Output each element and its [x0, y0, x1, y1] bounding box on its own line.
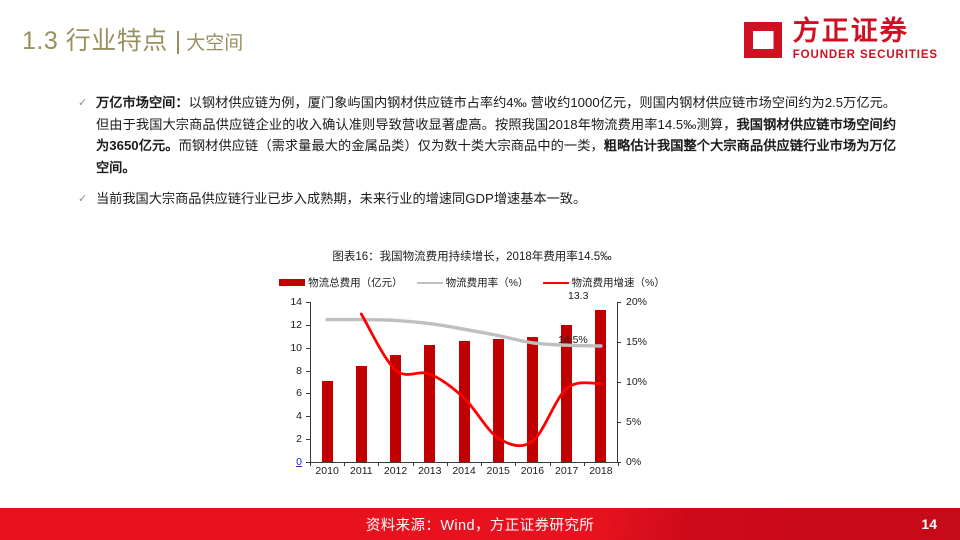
- checkmark-bullet-icon: ✓: [78, 93, 96, 113]
- y-tick-label-left: 14: [290, 296, 302, 308]
- y-tick-label-right: 10%: [626, 376, 647, 388]
- rate-line-label-2018: 14.5%: [558, 334, 588, 346]
- company-logo: 方正证券 FOUNDER SECURITIES: [742, 18, 938, 61]
- footer-source-text: 资料来源：Wind，方正证券研究所: [0, 508, 960, 540]
- page-title: 1.3 行业特点|大空间: [22, 21, 243, 57]
- chart-x-axis: [310, 462, 618, 463]
- bullet-1-lead-bold: 万亿市场空间：: [96, 95, 189, 110]
- x-tick-label: 2010: [315, 465, 338, 477]
- x-tick-mark: [310, 462, 311, 466]
- x-tick-label: 2014: [452, 465, 475, 477]
- x-tick-label: 2011: [350, 465, 373, 477]
- bullet-1-line4-pre: ，: [591, 138, 604, 153]
- chart-legend: 物流总费用（亿元） 物流费用率（%） 物流费用增速（%）: [252, 275, 692, 290]
- legend-swatch-red-line-icon: [543, 282, 569, 284]
- slide-body: ✓ 万亿市场空间：以钢材供应链为例，厦门象屿国内钢材供应链市占率约4‰ 营收约1…: [78, 92, 908, 220]
- logo-english-name: FOUNDER SECURITIES: [793, 49, 938, 61]
- page-title-separator: |: [175, 27, 182, 55]
- bullet-item-2: ✓ 当前我国大宗商品供应链行业已步入成熟期，未来行业的增速同GDP增速基本一致。: [78, 188, 908, 210]
- y-tick-label-right: 15%: [626, 336, 647, 348]
- legend-item-red-line: 物流费用增速（%）: [543, 275, 665, 290]
- y-tick-label-left: 12: [290, 319, 302, 331]
- legend-label-bar: 物流总费用（亿元）: [308, 275, 403, 290]
- y-tick-label-left: 2: [296, 433, 302, 445]
- x-tick-label: 2013: [418, 465, 441, 477]
- bullet-1-line3-rest: 而钢材供应链（需求量最大的金属品类）仅为数十类大宗商品中的一类: [179, 138, 591, 153]
- chart-title: 图表16：我国物流费用持续增长，2018年费用率14.5‰: [252, 248, 692, 264]
- chart-lines-layer: [310, 302, 618, 462]
- legend-label-gray-line: 物流费用率（%）: [446, 275, 529, 290]
- page-title-sub: 大空间: [186, 33, 243, 54]
- legend-swatch-gray-line-icon: [417, 282, 443, 284]
- slide-header: 1.3 行业特点|大空间 方正证券 FOUNDER SECURITIES: [0, 0, 960, 72]
- y-tick-label-left: 6: [296, 387, 302, 399]
- x-tick-label: 2015: [487, 465, 510, 477]
- slide-root: 1.3 行业特点|大空间 方正证券 FOUNDER SECURITIES ✓ 万…: [0, 0, 960, 540]
- x-tick-label: 2012: [384, 465, 407, 477]
- bullet-text-2: 当前我国大宗商品供应链行业已步入成熟期，未来行业的增速同GDP增速基本一致。: [96, 188, 896, 210]
- slide-footer: 资料来源：Wind，方正证券研究所 14: [0, 508, 960, 540]
- logo-chinese-name: 方正证券: [793, 18, 909, 45]
- chart-container: 图表16：我国物流费用持续增长，2018年费用率14.5‰ 物流总费用（亿元） …: [252, 248, 692, 503]
- y-tick-label-left: 0: [296, 456, 302, 468]
- x-tick-label: 2018: [589, 465, 612, 477]
- x-tick-mark: [447, 462, 448, 466]
- x-tick-mark: [584, 462, 585, 466]
- x-tick-mark: [550, 462, 551, 466]
- bullet-1-line1: 以钢材供应链为例，厦门象屿国内钢材供应链市占率约4‰ 营收约1000亿元，则国内…: [189, 95, 785, 110]
- page-title-main: 1.3 行业特点: [22, 27, 168, 55]
- logo-text-group: 方正证券 FOUNDER SECURITIES: [793, 18, 938, 61]
- x-tick-label: 2016: [521, 465, 544, 477]
- page-number: 14: [921, 508, 937, 540]
- y-tick-label-left: 4: [296, 410, 302, 422]
- bar-value-label-2018: 13.3: [568, 290, 588, 302]
- x-tick-mark: [378, 462, 379, 466]
- bullet-item-1: ✓ 万亿市场空间：以钢材供应链为例，厦门象屿国内钢材供应链市占率约4‰ 营收约1…: [78, 92, 908, 178]
- y-tick-label-right: 20%: [626, 296, 647, 308]
- y-tick-label-right: 0%: [626, 456, 641, 468]
- y-tick-label-left: 10: [290, 342, 302, 354]
- bullet-text-1: 万亿市场空间：以钢材供应链为例，厦门象屿国内钢材供应链市占率约4‰ 营收约100…: [96, 92, 896, 178]
- chart-plot-area: 02468101214 0%5%10%15%20% 20102011201220…: [272, 302, 672, 480]
- x-tick-mark: [618, 462, 619, 466]
- x-tick-mark: [481, 462, 482, 466]
- founder-logo-mark-icon: [742, 20, 784, 60]
- y-tick-label-right: 5%: [626, 416, 641, 428]
- legend-item-gray-line: 物流费用率（%）: [417, 275, 529, 290]
- legend-swatch-bar-icon: [279, 279, 305, 286]
- checkmark-bullet-icon-2: ✓: [78, 189, 96, 209]
- legend-item-bar: 物流总费用（亿元）: [279, 275, 403, 290]
- x-tick-mark: [413, 462, 414, 466]
- x-tick-label: 2017: [555, 465, 578, 477]
- legend-label-red-line: 物流费用增速（%）: [572, 275, 665, 290]
- y-tick-label-left: 8: [296, 365, 302, 377]
- bullet-1-line3-pre: 测算，: [697, 117, 737, 132]
- x-tick-mark: [344, 462, 345, 466]
- x-tick-mark: [515, 462, 516, 466]
